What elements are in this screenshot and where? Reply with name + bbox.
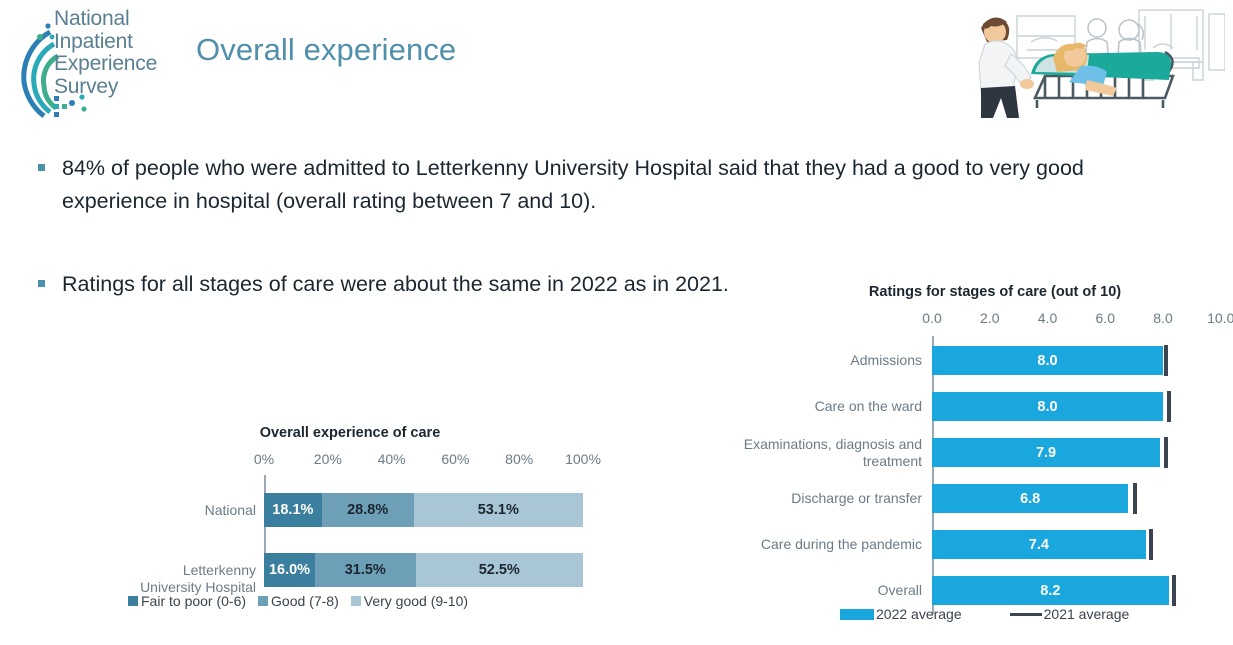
bar-row: 7.9 [932, 438, 1233, 467]
bar-row: 8.0 [932, 346, 1233, 375]
x-axis-tick-label: 0.0 [902, 310, 962, 326]
square-bullet-icon [38, 280, 45, 287]
x-axis-tick-label: 80% [489, 451, 549, 467]
legend-label: 2021 average [1044, 606, 1130, 622]
legend-item[interactable]: Good (7-8) [258, 593, 339, 609]
bar-row: 8.0 [932, 392, 1233, 421]
legend-swatch-icon [258, 596, 268, 606]
left-chart-legend: Fair to poor (0-6)Good (7-8)Very good (9… [128, 593, 480, 609]
legend-item[interactable]: Fair to poor (0-6) [128, 593, 246, 609]
right-chart-plot: 0.02.04.06.08.010.0Admissions8.0Care on … [700, 284, 1233, 614]
bar-2022-average: 6.8 [932, 484, 1128, 513]
legend-swatch-icon [128, 596, 138, 606]
legend-item[interactable]: 2021 average [1010, 606, 1130, 622]
bar-row: 6.8 [932, 484, 1233, 513]
bar-2022-average: 8.0 [932, 392, 1163, 421]
bullet-item-1: 84% of people who were admitted to Lette… [38, 152, 1158, 218]
category-label: Overall [700, 582, 922, 599]
marker-2021-average [1172, 575, 1176, 606]
marker-2021-average [1149, 529, 1153, 560]
ratings-for-stages-of-care-chart: Ratings for stages of care (out of 10) 0… [700, 284, 1233, 644]
stacked-segment: 31.5% [315, 553, 415, 587]
category-label: Care during the pandemic [700, 536, 922, 553]
square-bullet-icon [38, 164, 45, 171]
category-label: Letterkenny University Hospital [120, 562, 256, 596]
category-label: Examinations, diagnosis and treatment [700, 436, 922, 470]
bar-row: 8.2 [932, 576, 1233, 605]
legend-label: Good (7-8) [271, 593, 339, 609]
x-axis-tick-label: 2.0 [960, 310, 1020, 326]
logo-wordmark: National Inpatient Experience Survey [54, 8, 157, 98]
right-chart-legend: 2022 average2021 average [840, 606, 1177, 622]
y-axis-line [932, 336, 934, 614]
bar-2022-average: 7.9 [932, 438, 1160, 467]
x-axis-tick-label: 100% [553, 451, 613, 467]
stacked-segment: 18.1% [264, 493, 322, 527]
legend-swatch-icon [351, 596, 361, 606]
category-label: National [120, 502, 256, 519]
category-label: Admissions [700, 352, 922, 369]
stacked-segment: 28.8% [322, 493, 414, 527]
table-row: 18.1%28.8%53.1% [264, 493, 583, 527]
logo-line-1: National [54, 8, 157, 31]
page-header: National Inpatient Experience Survey Ove… [0, 0, 1233, 130]
bar-2022-average: 8.0 [932, 346, 1163, 375]
stacked-segment: 52.5% [416, 553, 583, 587]
logo-line-2: Inpatient [54, 31, 157, 54]
survey-logo: National Inpatient Experience Survey [10, 4, 190, 122]
x-axis-tick-label: 20% [298, 451, 358, 467]
marker-2021-average [1167, 391, 1171, 422]
x-axis-tick-label: 6.0 [1075, 310, 1135, 326]
x-axis-tick-label: 0% [234, 451, 294, 467]
category-label: Discharge or transfer [700, 490, 922, 507]
table-row: 16.0%31.5%52.5% [264, 553, 583, 587]
legend-label: 2022 average [876, 606, 962, 622]
marker-2021-average [1133, 483, 1137, 514]
bullet-text-1: 84% of people who were admitted to Lette… [62, 152, 1158, 218]
legend-bar-swatch-icon [840, 609, 874, 620]
logo-line-3: Experience [54, 53, 157, 76]
bar-row: 7.4 [932, 530, 1233, 559]
legend-item[interactable]: Very good (9-10) [351, 593, 468, 609]
x-axis-tick-label: 40% [362, 451, 422, 467]
patient-on-trolley-illustration [957, 2, 1225, 122]
legend-label: Fair to poor (0-6) [141, 593, 246, 609]
bullet-item-2: Ratings for all stages of care were abou… [38, 268, 798, 301]
x-axis-tick-label: 60% [425, 451, 485, 467]
page-title: Overall experience [196, 32, 456, 68]
logo-line-4: Survey [54, 76, 157, 99]
x-axis-tick-label: 4.0 [1018, 310, 1078, 326]
stacked-segment: 16.0% [264, 553, 315, 587]
bar-2022-average: 8.2 [932, 576, 1169, 605]
bullet-text-2: Ratings for all stages of care were abou… [62, 268, 729, 301]
legend-line-swatch-icon [1010, 613, 1042, 616]
marker-2021-average [1164, 437, 1168, 468]
stacked-segment: 53.1% [414, 493, 583, 527]
x-axis-tick-label: 8.0 [1133, 310, 1193, 326]
marker-2021-average [1164, 345, 1168, 376]
x-axis-tick-label: 10.0 [1191, 310, 1233, 326]
bar-2022-average: 7.4 [932, 530, 1146, 559]
legend-item[interactable]: 2022 average [840, 606, 962, 622]
overall-experience-of-care-chart: Overall experience of care 0%20%40%60%80… [120, 425, 620, 635]
category-label: Care on the ward [700, 398, 922, 415]
legend-label: Very good (9-10) [364, 593, 468, 609]
